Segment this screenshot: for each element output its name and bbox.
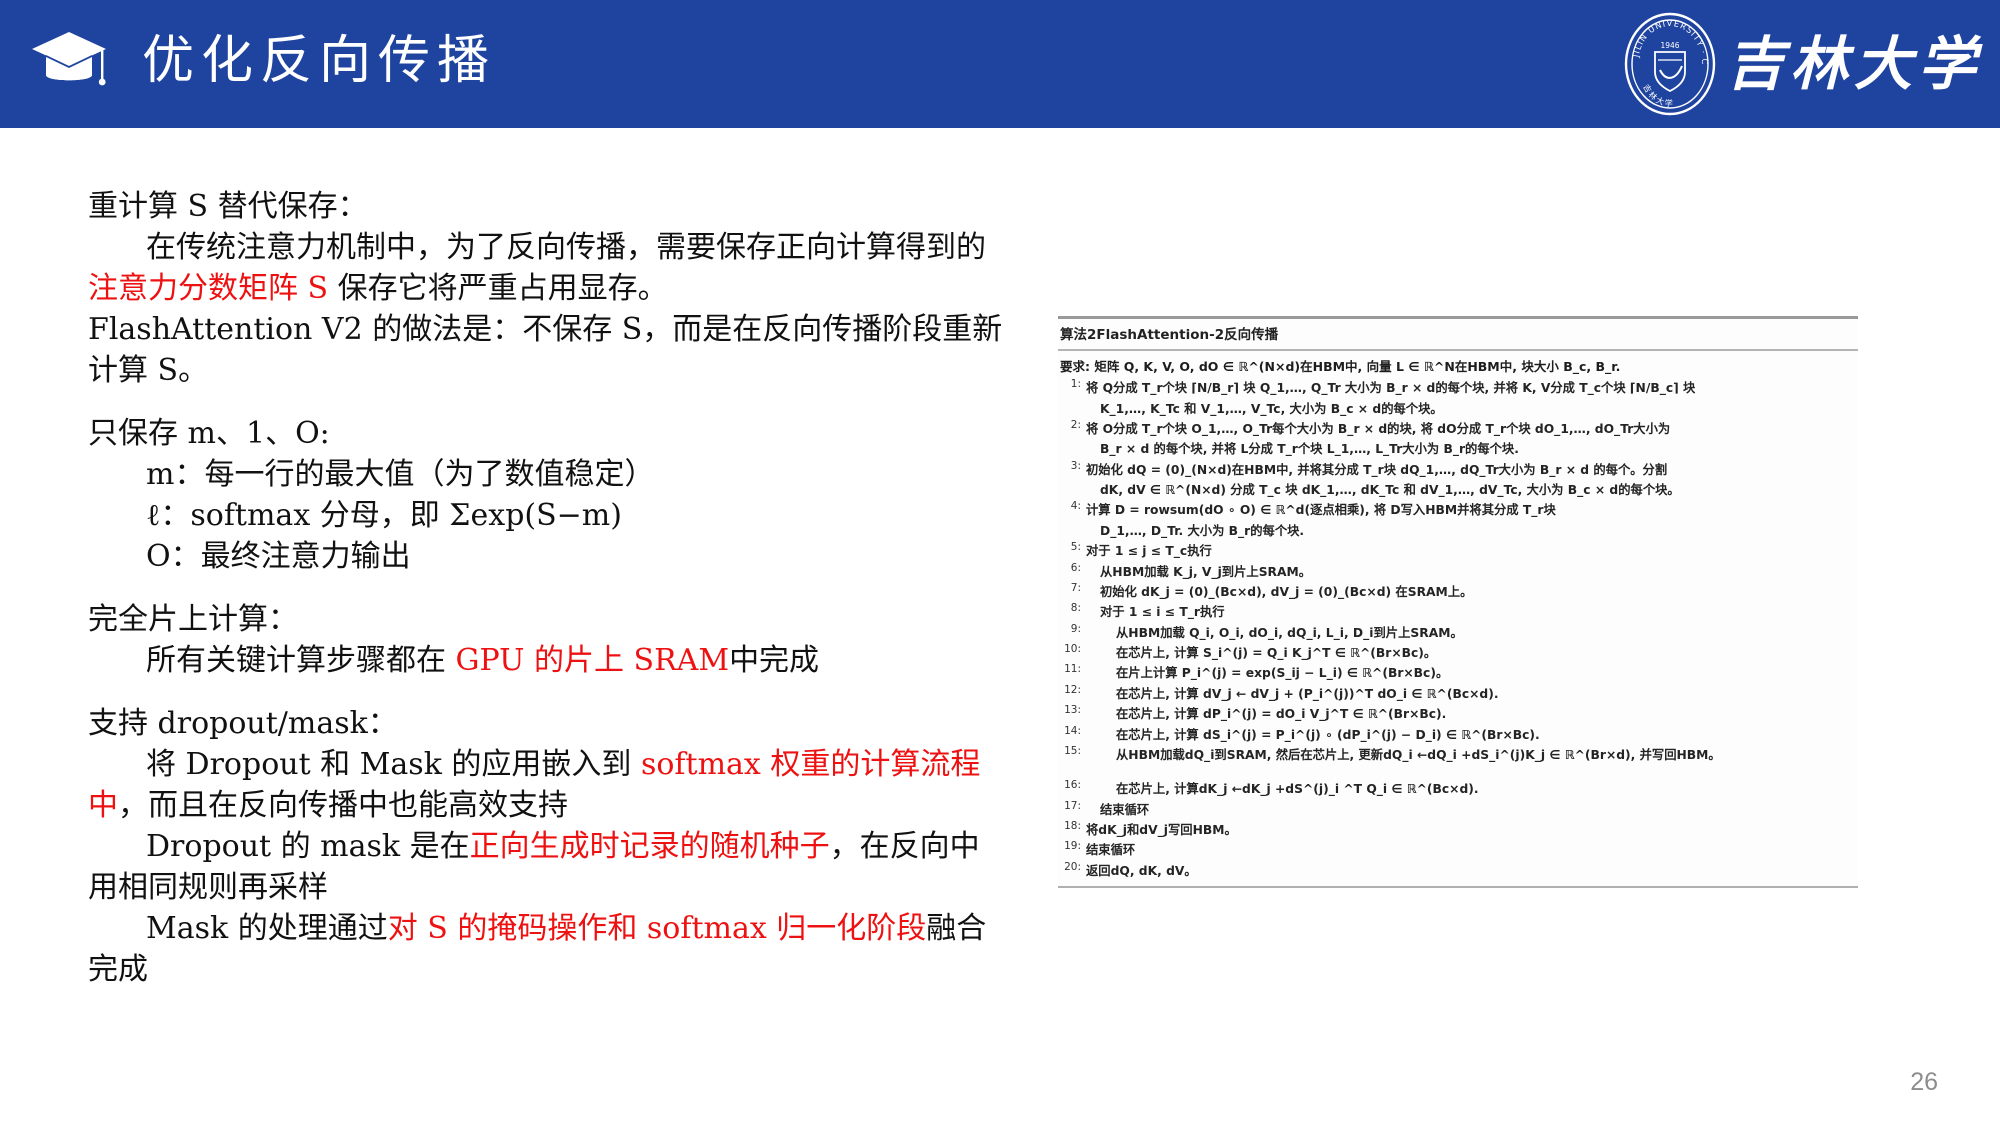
text-run: Mask 的处理通过 — [146, 911, 388, 946]
algorithm-step-text: 对于 1 ≤ j ≤ T_c执行 — [1086, 541, 1856, 559]
algorithm-step-number: 20: — [1060, 861, 1086, 873]
algorithm-step-row: 16:在芯片上, 计算dK_j ←dK_j +dS^(j)_i ^T Q_i ∈… — [1058, 778, 1858, 798]
university-wordmark: 吉林大学 — [1726, 12, 1982, 116]
algorithm-require-line: 要求: 矩阵 Q, K, V, O, dO ∈ ℝ^(N×d)在HBM中, 向量… — [1058, 351, 1858, 377]
algorithm-step-text: 在芯片上, 计算 dP_i^(j) = dO_i V_j^T ∈ ℝ^(Br×B… — [1086, 704, 1856, 722]
algorithm-step-number: 15: — [1060, 745, 1086, 757]
algorithm-step-number: 4: — [1060, 500, 1086, 512]
block-subline: 所有关键计算步骤都在 GPU 的片上 SRAM中完成 — [88, 640, 1008, 681]
graduation-cap-icon — [30, 28, 108, 90]
algorithm-step-text: B_r × d 的每个块, 并将 L分成 T_r个块 L_1,…, L_Tr大小… — [1086, 439, 1856, 457]
algorithm-step-text: 返回dQ, dK, dV。 — [1086, 861, 1856, 879]
algorithm-step-row: 8:对于 1 ≤ i ≤ T_r执行 — [1058, 601, 1858, 621]
algorithm-step-text: 结束循环 — [1086, 800, 1856, 818]
algorithm-step-row: 2:将 O分成 T_r个块 O_1,…, O_Tr每个大小为 B_r × d的块… — [1058, 418, 1858, 438]
algorithm-step-row: 10:在芯片上, 计算 S_i^(j) = Q_i K_j^T ∈ ℝ^(Br×… — [1058, 642, 1858, 662]
algorithm-step-row: 17:结束循环 — [1058, 799, 1858, 819]
algorithm-step-text: 结束循环 — [1086, 840, 1856, 858]
algorithm-step-row: 15:从HBM加载dQ_i到SRAM, 然后在芯片上, 更新dQ_i ←dQ_i… — [1058, 744, 1858, 764]
algorithm-step-number: 2: — [1060, 419, 1086, 431]
algorithm-step-list: 1:将 Q分成 T_r个块 ⌈N/B_r⌉ 块 Q_1,…, Q_Tr 大小为 … — [1058, 377, 1858, 880]
algorithm-step-text: K_1,…, K_Tc 和 V_1,…, V_Tc, 大小为 B_c × d的每… — [1086, 399, 1856, 417]
algorithm-step-row: 18:将dK_j和dV_j写回HBM。 — [1058, 819, 1858, 839]
block-heading: 支持 dropout/mask： — [88, 703, 1008, 744]
algorithm-step-text: dK, dV ∈ ℝ^(N×d) 分成 T_c 块 dK_1,…, dK_Tc … — [1086, 480, 1856, 498]
algorithm-step-text: 在芯片上, 计算 dS_i^(j) = P_i^(j) ∘ (dP_i^(j) … — [1086, 725, 1856, 743]
text-run: 所有关键计算步骤都在 — [146, 643, 456, 678]
algorithm-step-number: 8: — [1060, 602, 1086, 614]
header-bar: 优化反向传播 JILIN UNIVERSITY · CHINA 吉林大学 194… — [0, 0, 2000, 128]
text-run-highlight: 对 S 的掩码操作和 softmax 归一化阶段 — [388, 911, 927, 946]
algorithm-step-text: 从HBM加载 K_j, V_j到片上SRAM。 — [1086, 562, 1856, 580]
algorithm-step-number: 9: — [1060, 623, 1086, 635]
algorithm-step-number: 14: — [1060, 725, 1086, 737]
algorithm-step-row: dK, dV ∈ ℝ^(N×d) 分成 T_c 块 dK_1,…, dK_Tc … — [1058, 479, 1858, 499]
algorithm-step-text: 计算 D = rowsum(dO ∘ O) ∈ ℝ^d(逐点相乘), 将 D写入… — [1086, 500, 1856, 518]
algorithm-step-number: 3: — [1060, 460, 1086, 472]
block-heading: 重计算 S 替代保存： — [88, 186, 1008, 227]
algorithm-step-text: 在芯片上, 计算dK_j ←dK_j +dS^(j)_i ^T Q_i ∈ ℝ^… — [1086, 779, 1856, 797]
content-block: 只保存 m、1、O: m：每一行的最大值（为了数值稳定） ℓ：softmax 分… — [88, 413, 1008, 577]
algorithm-step-number: 6: — [1060, 562, 1086, 574]
algorithm-step-row: 4:计算 D = rowsum(dO ∘ O) ∈ ℝ^d(逐点相乘), 将 D… — [1058, 499, 1858, 519]
algorithm-step-number: 12: — [1060, 684, 1086, 696]
university-seal-icon: JILIN UNIVERSITY · CHINA 吉林大学 1946 — [1622, 12, 1718, 116]
algorithm-step-row: 7:初始化 dK_j = (0)_(Bc×d), dV_j = (0)_(Bc×… — [1058, 581, 1858, 601]
block-heading: 只保存 m、1、O: — [88, 413, 1008, 454]
algorithm-step-number: 18: — [1060, 820, 1086, 832]
algorithm-step-text: 从HBM加载dQ_i到SRAM, 然后在芯片上, 更新dQ_i ←dQ_i +d… — [1086, 745, 1856, 763]
algorithm-step-number: 17: — [1060, 800, 1086, 812]
algorithm-step-text: 将 Q分成 T_r个块 ⌈N/B_r⌉ 块 Q_1,…, Q_Tr 大小为 B_… — [1086, 378, 1856, 396]
text-run-highlight: 正向生成时记录的随机种子 — [470, 829, 830, 864]
block-paragraph: Dropout 的 mask 是在正向生成时记录的随机种子，在反向中用相同规则再… — [88, 826, 1008, 908]
block-heading: 完全片上计算： — [88, 599, 1008, 640]
page-title: 优化反向传播 — [142, 22, 496, 100]
algorithm-step-row: D_1,…, D_Tr. 大小为 B_r的每个块. — [1058, 520, 1858, 540]
text-run-highlight: GPU 的片上 SRAM — [456, 643, 730, 678]
algorithm-step-text: D_1,…, D_Tr. 大小为 B_r的每个块. — [1086, 521, 1856, 539]
svg-text:1946: 1946 — [1660, 41, 1679, 50]
algorithm-step-text: 初始化 dK_j = (0)_(Bc×d), dV_j = (0)_(Bc×d)… — [1086, 582, 1856, 600]
algorithm-step-row: 9:从HBM加载 Q_i, O_i, dO_i, dQ_i, L_i, D_i到… — [1058, 622, 1858, 642]
algorithm-step-row: B_r × d 的每个块, 并将 L分成 T_r个块 L_1,…, L_Tr大小… — [1058, 438, 1858, 458]
algorithm-step-text: 将dK_j和dV_j写回HBM。 — [1086, 820, 1856, 838]
algorithm-bottom-rule — [1058, 886, 1858, 888]
algorithm-step-row: 6:从HBM加载 K_j, V_j到片上SRAM。 — [1058, 560, 1858, 580]
content-block: 完全片上计算： 所有关键计算步骤都在 GPU 的片上 SRAM中完成 — [88, 599, 1008, 681]
content-block: 重计算 S 替代保存： 在传统注意力机制中，为了反向传播，需要保存正向计算得到的… — [88, 186, 1008, 391]
algorithm-figure: 算法2FlashAttention-2反向传播 要求: 矩阵 Q, K, V, … — [1058, 316, 1858, 888]
algorithm-step-row: 13:在芯片上, 计算 dP_i^(j) = dO_i V_j^T ∈ ℝ^(B… — [1058, 703, 1858, 723]
page-number: 26 — [1910, 1068, 1938, 1097]
block-paragraph: FlashAttention V2 的做法是：不保存 S，而是在反向传播阶段重新… — [88, 309, 1008, 391]
algorithm-step-number: 10: — [1060, 643, 1086, 655]
text-run: 在传统注意力机制中，为了反向传播，需要保存正向计算得到的 — [146, 230, 986, 265]
algorithm-step-row: 12:在芯片上, 计算 dV_j ← dV_j + (P_i^(j))^T dO… — [1058, 683, 1858, 703]
text-run-highlight: 注意力分数矩阵 S — [88, 271, 328, 306]
algorithm-step-row: 1:将 Q分成 T_r个块 ⌈N/B_r⌉ 块 Q_1,…, Q_Tr 大小为 … — [1058, 377, 1858, 397]
algorithm-step-number: 1: — [1060, 378, 1086, 390]
block-paragraph: Mask 的处理通过对 S 的掩码操作和 softmax 归一化阶段融合完成 — [88, 908, 1008, 990]
text-run: 中完成 — [729, 643, 819, 678]
algorithm-spacer — [1058, 764, 1858, 778]
algorithm-step-number: 16: — [1060, 779, 1086, 791]
slide-root: 优化反向传播 JILIN UNIVERSITY · CHINA 吉林大学 194… — [0, 0, 2000, 1125]
algorithm-step-text: 对于 1 ≤ i ≤ T_r执行 — [1086, 602, 1856, 620]
body-text-column: 重计算 S 替代保存： 在传统注意力机制中，为了反向传播，需要保存正向计算得到的… — [88, 186, 1008, 1012]
algorithm-step-text: 将 O分成 T_r个块 O_1,…, O_Tr每个大小为 B_r × d的块, … — [1086, 419, 1856, 437]
algorithm-step-text: 在芯片上, 计算 S_i^(j) = Q_i K_j^T ∈ ℝ^(Br×Bc)… — [1086, 643, 1856, 661]
university-logo: JILIN UNIVERSITY · CHINA 吉林大学 1946 吉林大学 — [1622, 10, 1982, 118]
algorithm-step-text: 初始化 dQ = (0)_(N×d)在HBM中, 并将其分成 T_r块 dQ_1… — [1086, 460, 1856, 478]
text-run: 将 Dropout 和 Mask 的应用嵌入到 — [146, 747, 641, 782]
text-run: 保存它将严重占用显存。 — [328, 271, 668, 306]
algorithm-title: 算法2FlashAttention-2反向传播 — [1058, 319, 1858, 346]
algorithm-step-number: 5: — [1060, 541, 1086, 553]
block-paragraph: 在传统注意力机制中，为了反向传播，需要保存正向计算得到的注意力分数矩阵 S 保存… — [88, 227, 1008, 309]
algorithm-step-row: 19:结束循环 — [1058, 839, 1858, 859]
algorithm-step-text: 从HBM加载 Q_i, O_i, dO_i, dQ_i, L_i, D_i到片上… — [1086, 623, 1856, 641]
algorithm-step-row: K_1,…, K_Tc 和 V_1,…, V_Tc, 大小为 B_c × d的每… — [1058, 397, 1858, 417]
block-subline: ℓ：softmax 分母，即 Σexp(S−m) — [88, 495, 1008, 536]
algorithm-step-number: 13: — [1060, 704, 1086, 716]
block-subline: m：每一行的最大值（为了数值稳定） — [88, 454, 1008, 495]
text-run: ，而且在反向传播中也能高效支持 — [118, 788, 568, 823]
algorithm-step-row: 11:在片上计算 P_i^(j) = exp(S_ij − L_i) ∈ ℝ^(… — [1058, 662, 1858, 682]
block-paragraph: 将 Dropout 和 Mask 的应用嵌入到 softmax 权重的计算流程中… — [88, 744, 1008, 826]
block-subline: O：最终注意力输出 — [88, 536, 1008, 577]
algorithm-step-row: 3:初始化 dQ = (0)_(N×d)在HBM中, 并将其分成 T_r块 dQ… — [1058, 459, 1858, 479]
algorithm-step-number: 19: — [1060, 840, 1086, 852]
text-run: Dropout 的 mask 是在 — [146, 829, 470, 864]
content-block: 支持 dropout/mask： 将 Dropout 和 Mask 的应用嵌入到… — [88, 703, 1008, 990]
algorithm-step-number: 11: — [1060, 663, 1086, 675]
algorithm-step-number: 7: — [1060, 582, 1086, 594]
algorithm-step-row: 5:对于 1 ≤ j ≤ T_c执行 — [1058, 540, 1858, 560]
algorithm-step-row: 14:在芯片上, 计算 dS_i^(j) = P_i^(j) ∘ (dP_i^(… — [1058, 723, 1858, 743]
algorithm-step-text: 在芯片上, 计算 dV_j ← dV_j + (P_i^(j))^T dO_i … — [1086, 684, 1856, 702]
algorithm-step-row: 20:返回dQ, dK, dV。 — [1058, 860, 1858, 880]
svg-text:吉林大学: 吉林大学 — [1641, 83, 1675, 108]
algorithm-step-text: 在片上计算 P_i^(j) = exp(S_ij − L_i) ∈ ℝ^(Br×… — [1086, 663, 1856, 681]
